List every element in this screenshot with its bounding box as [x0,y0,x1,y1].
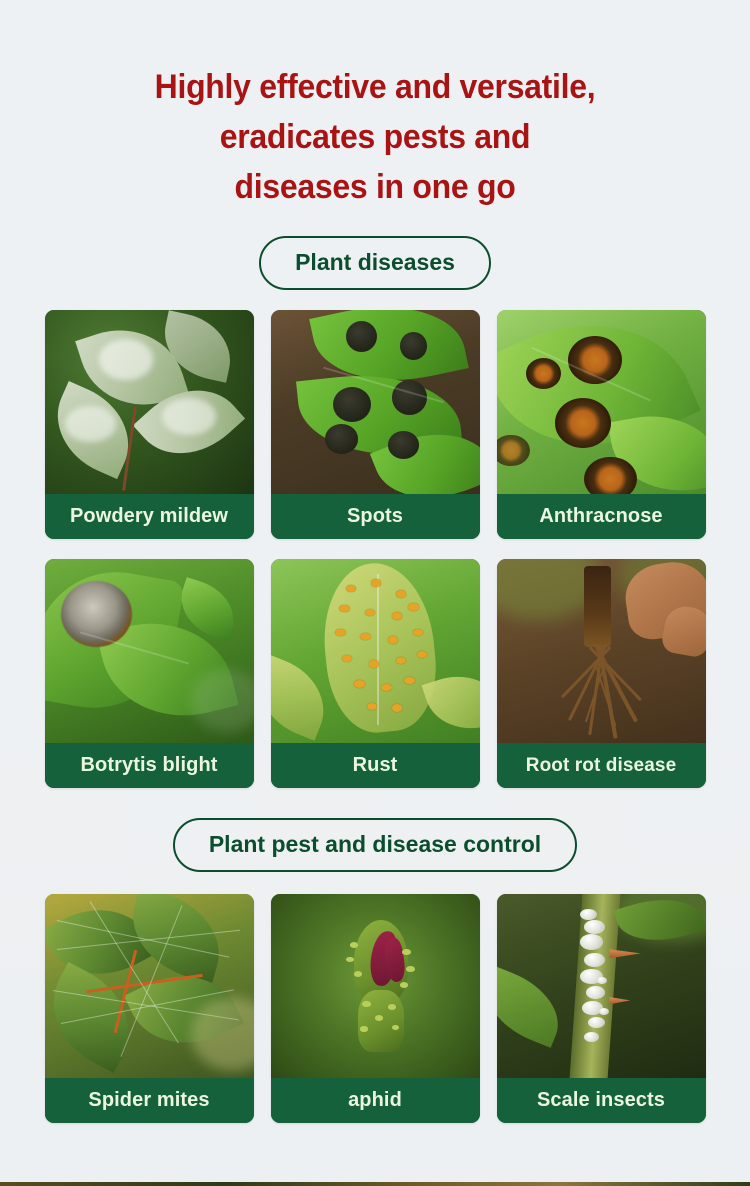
card-anthracnose[interactable]: Anthracnose [497,310,706,539]
card-image-spots [271,310,480,494]
card-aphid[interactable]: aphid [271,894,480,1123]
disease-card-grid: Powdery mildew Spots [45,310,706,788]
card-scale-insects[interactable]: Scale insects [497,894,706,1123]
section-badge-plant-diseases: Plant diseases [259,236,491,290]
card-botrytis-blight[interactable]: Botrytis blight [45,559,254,788]
card-label-spider-mites: Spider mites [45,1078,254,1123]
card-image-powdery-mildew [45,310,254,494]
card-label-scale-insects: Scale insects [497,1078,706,1123]
page-title: Highly effective and versatile, eradicat… [23,0,728,212]
card-label-anthracnose: Anthracnose [497,494,706,539]
card-spots[interactable]: Spots [271,310,480,539]
page-title-line-2: eradicates pests and [23,112,728,162]
card-image-rust [271,559,480,743]
bottom-edge-strip [0,1182,750,1186]
card-image-aphid [271,894,480,1078]
card-image-spider-mites [45,894,254,1078]
card-label-rust: Rust [271,743,480,788]
pest-card-grid: Spider mites aphid [45,894,706,1123]
card-label-botrytis-blight: Botrytis blight [45,743,254,788]
card-image-botrytis-blight [45,559,254,743]
card-root-rot-disease[interactable]: Root rot disease [497,559,706,788]
card-image-anthracnose [497,310,706,494]
section-badge-plant-diseases-wrap: Plant diseases [0,236,750,290]
card-label-powdery-mildew: Powdery mildew [45,494,254,539]
section-badge-pest-control-wrap: Plant pest and disease control [0,818,750,872]
card-label-root-rot-disease: Root rot disease [497,743,706,788]
card-spider-mites[interactable]: Spider mites [45,894,254,1123]
page-title-line-3: diseases in one go [23,162,728,212]
card-image-root-rot-disease [497,559,706,743]
page-title-line-1: Highly effective and versatile, [23,62,728,112]
card-label-spots: Spots [271,494,480,539]
card-image-scale-insects [497,894,706,1078]
card-powdery-mildew[interactable]: Powdery mildew [45,310,254,539]
card-rust[interactable]: Rust [271,559,480,788]
card-label-aphid: aphid [271,1078,480,1123]
section-badge-pest-control: Plant pest and disease control [173,818,577,872]
